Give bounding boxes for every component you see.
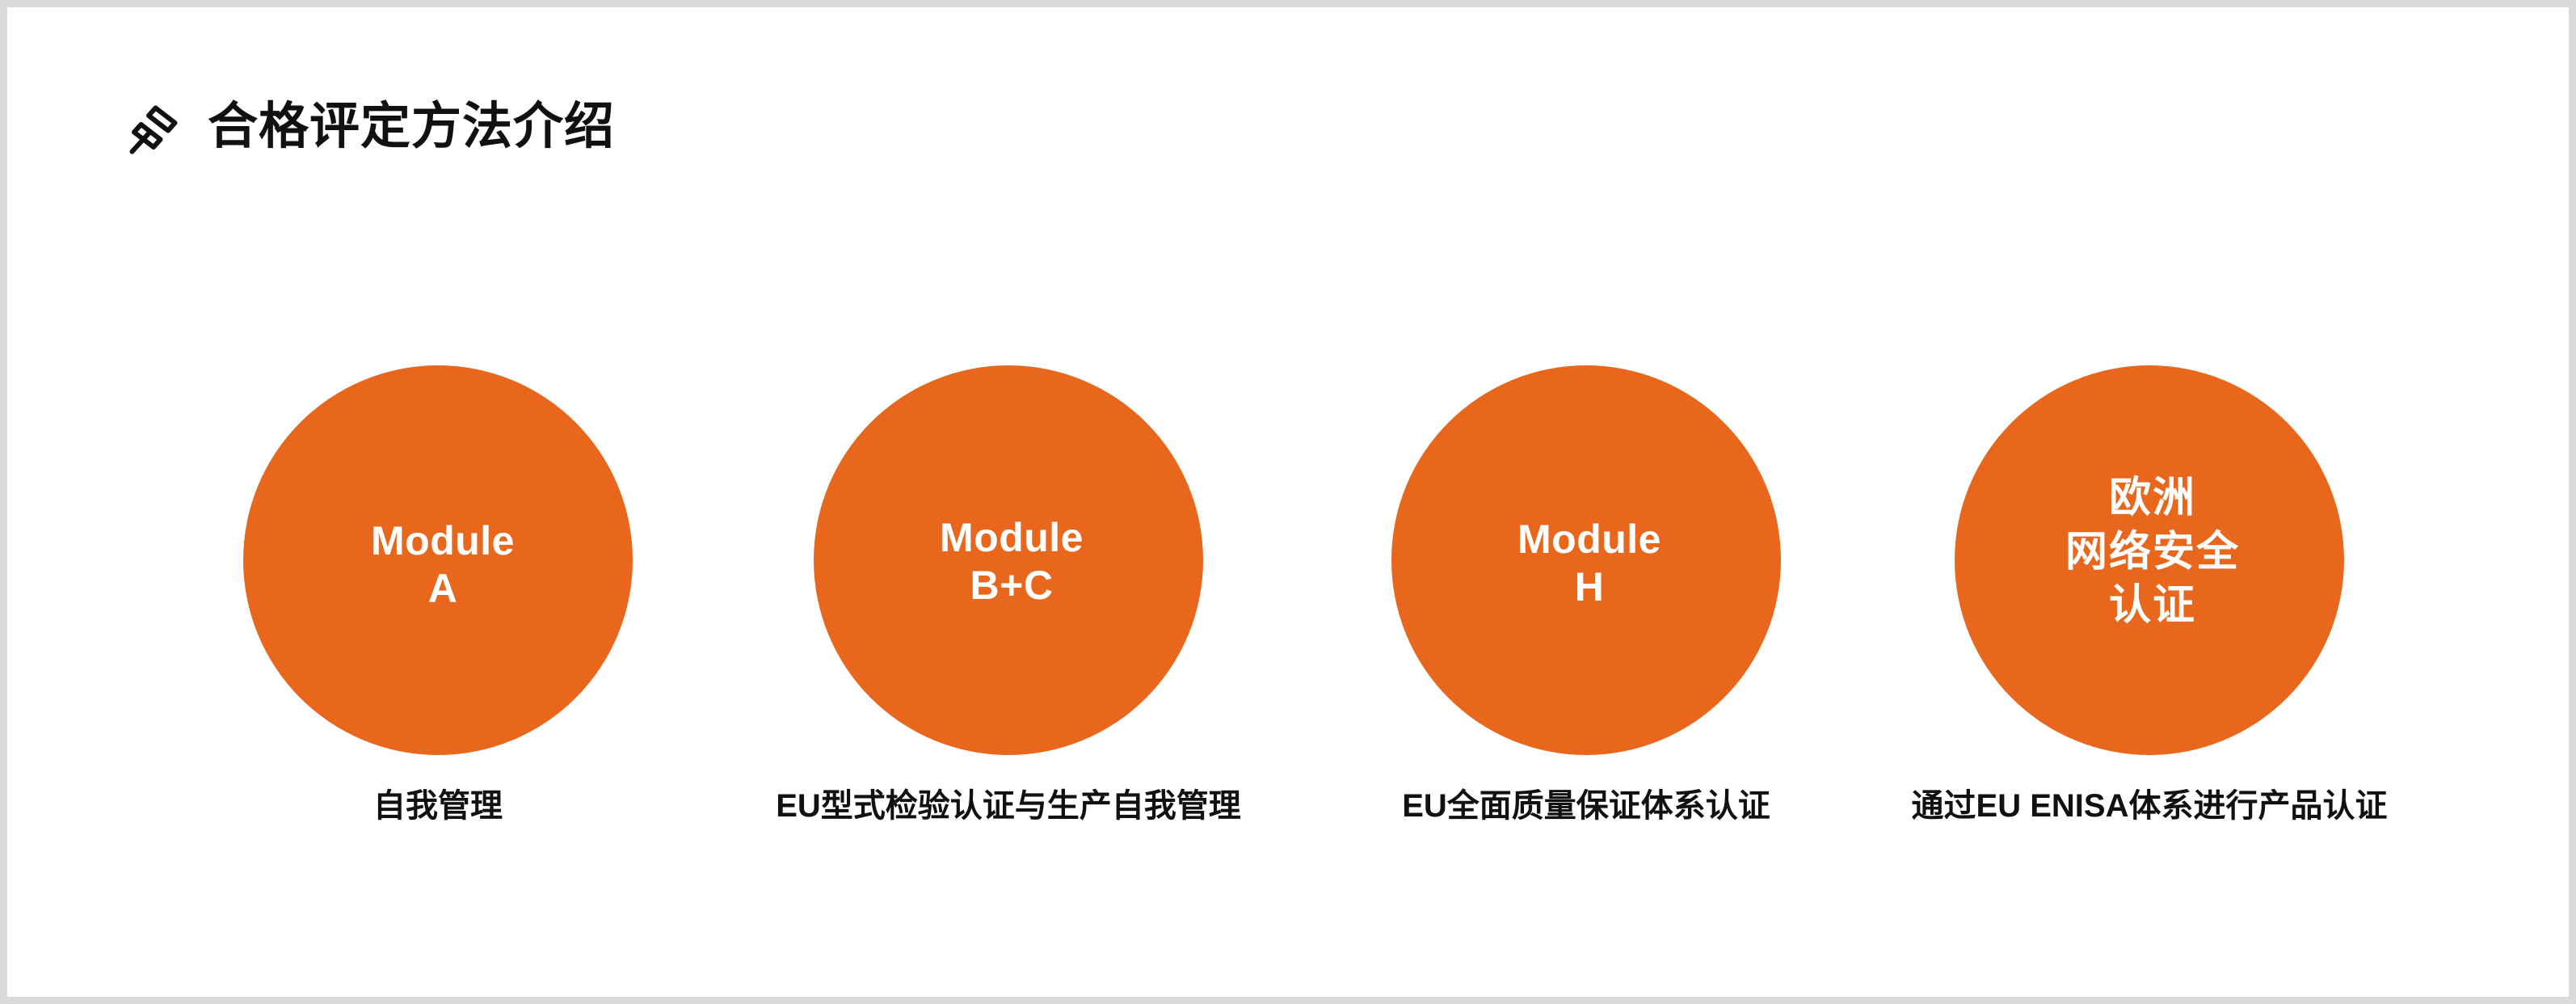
node-module-h[interactable]: Module H — [1391, 365, 1781, 755]
caption-module-a: 自我管理 — [373, 786, 503, 826]
page-title: 合格评定方法介绍 — [208, 102, 615, 152]
circle-label-module-b-c: Module B+C — [940, 514, 1084, 610]
node-eu-cybersecurity-certification[interactable]: 欧洲 网络安全 认证 — [1955, 365, 2344, 755]
caption-module-b-c: EU型式检验认证与生产自我管理 — [776, 786, 1241, 826]
circle-label-module-h: Module H — [1517, 516, 1661, 611]
circle-eu-cybersecurity-certification[interactable]: 欧洲 网络安全 认证 — [1955, 365, 2344, 755]
node-module-a[interactable]: Module A — [243, 365, 633, 755]
circle-module-a[interactable]: Module A — [243, 365, 633, 755]
circle-label-eu-cybersecurity-certification: 欧洲 网络安全 认证 — [2065, 471, 2240, 633]
pushpin-icon — [127, 98, 185, 156]
caption-eu-cybersecurity-certification: 通过EU ENISA体系进行产品认证 — [1912, 786, 2388, 826]
slide-header: 合格评定方法介绍 — [127, 95, 615, 159]
node-module-b-c[interactable]: Module B+C — [814, 365, 1203, 755]
circle-module-h[interactable]: Module H — [1391, 365, 1781, 755]
slide-canvas: 合格评定方法介绍 Module A Module B+C Module H 欧洲… — [0, 0, 2576, 1004]
circle-module-b-c[interactable]: Module B+C — [814, 365, 1203, 755]
caption-module-h: EU全面质量保证体系认证 — [1402, 786, 1770, 826]
circle-label-module-a: Module A — [371, 517, 515, 613]
module-captions-row: 自我管理 EU型式检验认证与生产自我管理 EU全面质量保证体系认证 通过EU E… — [7, 786, 2576, 842]
module-circles-row: Module A Module B+C Module H 欧洲 网络安全 认证 — [7, 365, 2576, 755]
